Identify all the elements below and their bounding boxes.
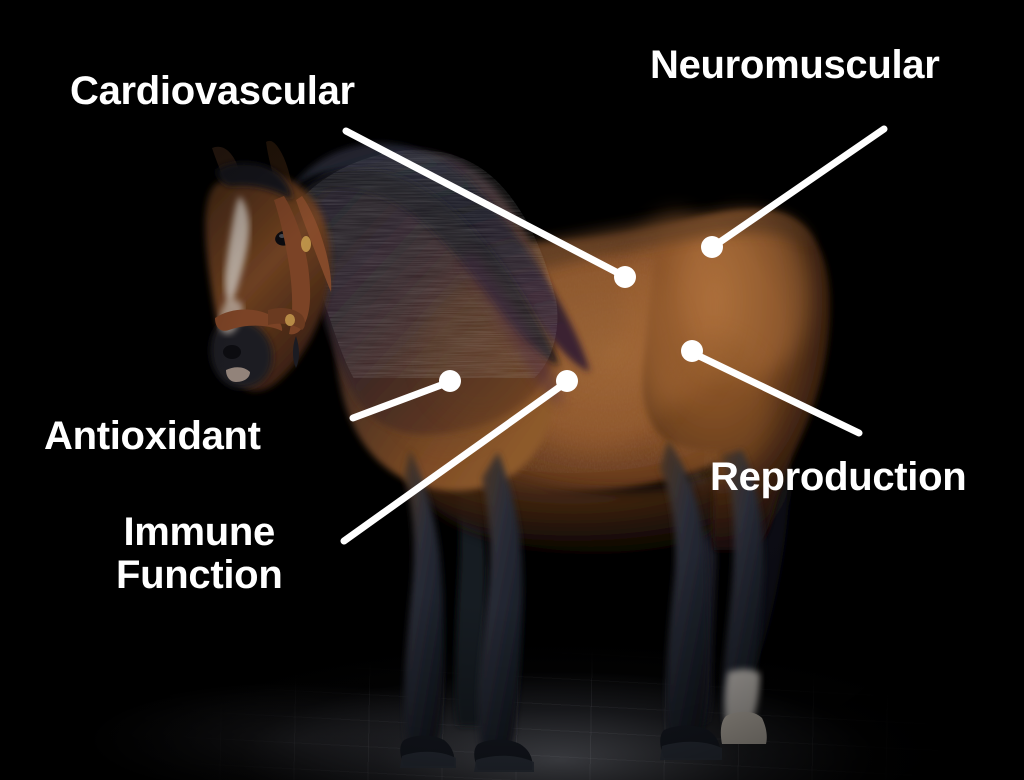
- callout-dot-cardiovascular: [614, 266, 636, 288]
- leader-line-neuromuscular: [701, 129, 884, 258]
- leader-line-antioxidant: [353, 370, 461, 418]
- leader-line-reproduction: [681, 340, 859, 433]
- leader-line-cardiovascular: [346, 131, 636, 288]
- annotation-overlay: [0, 0, 1024, 780]
- label-antioxidant: Antioxidant: [44, 415, 261, 458]
- label-cardiovascular: Cardiovascular: [70, 70, 355, 113]
- label-immune-function: Immune Function: [116, 511, 282, 597]
- callout-dot-neuromuscular: [701, 236, 723, 258]
- label-reproduction: Reproduction: [710, 456, 966, 499]
- annotated-horse-diagram: Cardiovascular Neuromuscular Antioxidant…: [0, 0, 1024, 780]
- leader-line-immune-function: [344, 370, 578, 541]
- callout-dot-immune-function: [556, 370, 578, 392]
- callout-dot-antioxidant: [439, 370, 461, 392]
- callout-dot-reproduction: [681, 340, 703, 362]
- label-neuromuscular: Neuromuscular: [650, 44, 940, 87]
